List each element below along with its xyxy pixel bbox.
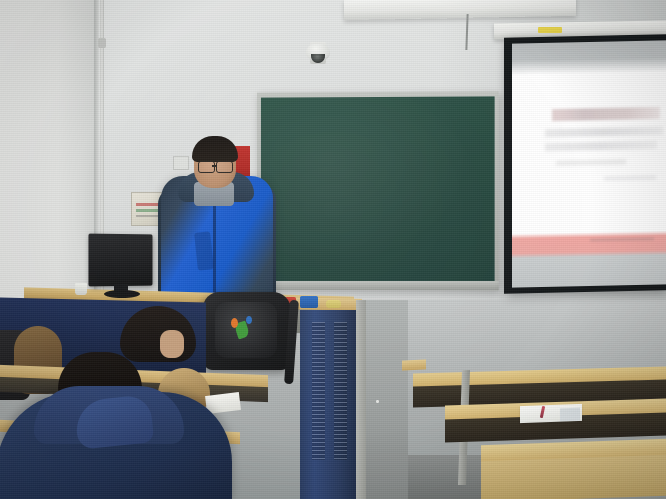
glasses-icon <box>198 161 215 173</box>
white-cup <box>75 283 87 295</box>
cabinet-louver <box>334 322 347 460</box>
louvered-cabinet <box>300 310 358 499</box>
cabinet-side-panel <box>366 300 408 499</box>
chalk-tray <box>258 281 499 290</box>
chalk-box-blue <box>300 296 318 308</box>
wall-socket <box>173 156 189 170</box>
glasses-bridge <box>212 165 217 167</box>
cabinet-louver <box>312 322 325 460</box>
jacket-zipper <box>213 198 216 306</box>
student-face <box>160 330 184 358</box>
housing-sticker <box>538 27 562 33</box>
cabinet-screw <box>376 400 379 403</box>
monitor-base <box>104 290 140 298</box>
conduit-pipe-joint <box>98 38 106 48</box>
board-eraser <box>326 300 341 308</box>
chalkboard-surface <box>261 96 495 282</box>
floor <box>408 455 488 499</box>
glasses-icon <box>216 161 233 173</box>
paper-fold <box>560 408 580 422</box>
desk-edge <box>402 359 426 370</box>
slide-title-text <box>552 107 660 121</box>
computer-monitor <box>88 234 152 287</box>
backpack-logo-icon <box>246 316 252 324</box>
placard-text-line <box>136 215 158 217</box>
backpack-logo-icon <box>231 318 238 328</box>
classroom-photo: Classroom lecture with presenter at fron… <box>0 0 666 499</box>
cabinet-frame <box>356 300 366 499</box>
wall-column <box>0 0 96 330</box>
